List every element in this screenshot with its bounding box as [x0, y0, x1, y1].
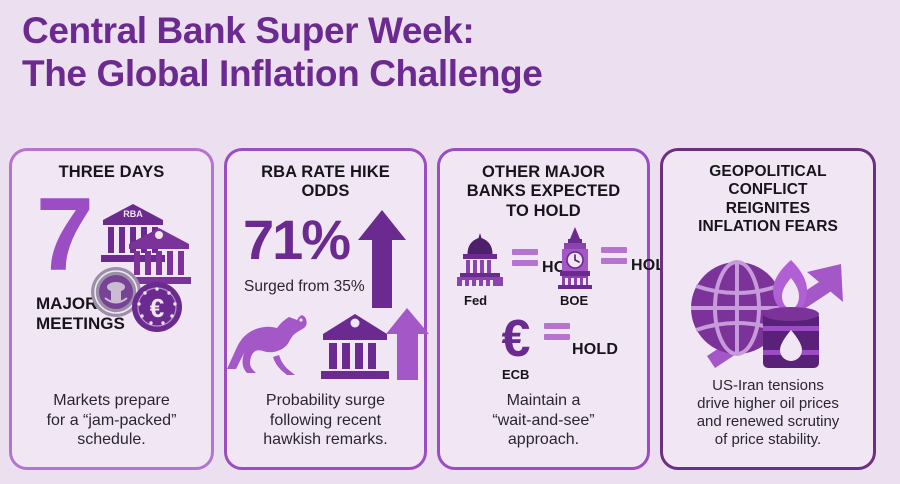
card-heading-line-1: RBA RATE HIKE [261, 163, 390, 182]
odds-percent: 71% [243, 212, 349, 268]
card-body-line-3: approach. [492, 430, 594, 449]
bank-status-ecb: € HOLD [490, 313, 618, 365]
card-heading: GEOPOLITICAL CONFLICT REIGNITES INFLATIO… [698, 163, 838, 236]
card-body-line-3: hawkish remarks. [263, 430, 387, 449]
card-banks-expected-to-hold: OTHER MAJOR BANKS EXPECTED TO HOLD [437, 148, 650, 470]
card-heading-line-2: CONFLICT [698, 181, 838, 199]
bank-name-label: BOE [560, 293, 588, 308]
kangaroo-bank-group [239, 308, 420, 382]
up-arrow-icon [386, 308, 429, 380]
card-geopolitical-conflict: GEOPOLITICAL CONFLICT REIGNITES INFLATIO… [660, 148, 876, 470]
title-line-2: The Global Inflation Challenge [22, 53, 900, 96]
card-body-line-1: Probability surge [263, 391, 387, 410]
card-heading-line-2: ODDS [261, 182, 390, 201]
svg-text:€: € [502, 310, 531, 368]
capitol-dome-icon [454, 231, 506, 289]
bank-name-label: ECB [502, 367, 529, 382]
card-body-line-1: US-Iran tensions [697, 377, 840, 395]
title-line-1: Central Bank Super Week: [22, 10, 900, 53]
euro-coin-icon: € [132, 282, 182, 332]
card-body-line-2: following recent [263, 411, 387, 430]
card-heading: OTHER MAJOR BANKS EXPECTED TO HOLD [467, 163, 621, 221]
equals-icon [601, 247, 627, 269]
card-body: Markets prepare for a “jam-packed” sched… [47, 391, 177, 459]
svg-text:RBA: RBA [123, 209, 143, 219]
bank-status-boe: HOLD [555, 227, 677, 289]
card-body-line-4: of price stability. [697, 431, 840, 449]
card-body-line-3: and renewed scrutiny [697, 413, 840, 431]
bank-icon [321, 314, 389, 379]
card-heading-line-4: INFLATION FEARS [698, 218, 838, 236]
card-heading: RBA RATE HIKE ODDS [261, 163, 390, 202]
card-row: THREE DAYS 7 MAJOR MEETINGS [9, 148, 893, 470]
card-body: US-Iran tensions drive higher oil prices… [697, 377, 840, 459]
card-three-days: THREE DAYS 7 MAJOR MEETINGS [9, 148, 214, 470]
big-ben-icon [555, 227, 595, 289]
card-visual: 7 MAJOR MEETINGS [20, 188, 203, 360]
card-heading-line-3: TO HOLD [467, 202, 621, 221]
card-heading-line-1: GEOPOLITICAL [698, 163, 838, 181]
card-body-line-1: Markets prepare [47, 391, 177, 410]
card-visual: 71% Surged from 35% [235, 210, 416, 392]
bank-status-label: HOLD [572, 341, 618, 359]
equals-icon [544, 323, 570, 345]
bank-icon [127, 228, 191, 284]
kangaroo-icon [227, 315, 307, 375]
card-heading-line-1: OTHER MAJOR [467, 163, 621, 182]
card-body-line-1: Maintain a [492, 391, 594, 410]
card-body: Probability surge following recent hawki… [263, 391, 387, 459]
card-body-line-2: for a “jam-packed” [47, 411, 177, 430]
oil-barrel-icon [763, 307, 819, 368]
card-heading-line-3: REIGNITES [698, 200, 838, 218]
page-title: Central Bank Super Week: The Global Infl… [0, 0, 900, 96]
card-visual: HOLD Fed [448, 227, 639, 391]
card-body-line-3: schedule. [47, 430, 177, 449]
central-bank-icon-group: RBA [81, 194, 199, 334]
bank-name-label: Fed [464, 293, 487, 308]
up-arrow-icon [358, 210, 406, 308]
card-body-line-2: “wait-and-see” [492, 411, 594, 430]
svg-text:€: € [150, 293, 164, 323]
equals-icon [512, 249, 538, 271]
card-heading-line-2: BANKS EXPECTED [467, 182, 621, 201]
euro-sign-icon: € [490, 313, 542, 365]
card-body-line-2: drive higher oil prices [697, 395, 840, 413]
card-visual [671, 244, 865, 377]
odds-subtext: Surged from 35% [244, 278, 365, 296]
card-rba-rate-hike-odds: RBA RATE HIKE ODDS 71% Surged from 35% [224, 148, 427, 470]
card-body: Maintain a “wait-and-see” approach. [492, 391, 594, 459]
